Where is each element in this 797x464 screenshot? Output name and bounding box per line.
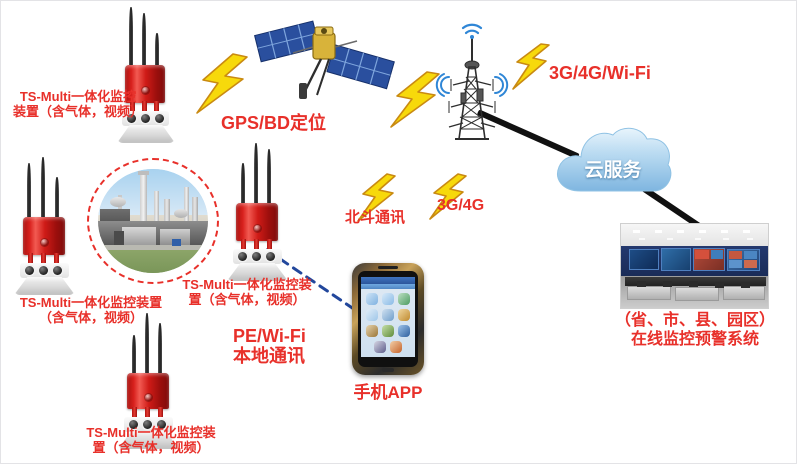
device-body: [23, 217, 65, 255]
antenna: [158, 323, 162, 379]
control-room-photo[interactable]: [620, 223, 769, 309]
phone-home-button[interactable]: [382, 368, 394, 372]
antenna: [254, 143, 258, 209]
lightning-bolt-icon-gps: [187, 53, 251, 115]
beidou-label: 北斗通讯: [345, 209, 439, 227]
sensor-port: [252, 252, 261, 261]
title-bar: [361, 284, 415, 289]
sensor-port: [266, 252, 275, 261]
phone-app-label: 手机APP: [333, 383, 443, 403]
phone-speaker: [378, 266, 398, 269]
app-icon[interactable]: [382, 309, 394, 321]
app-icon[interactable]: [366, 293, 378, 305]
antenna: [267, 149, 271, 209]
cell-tower-icon: [433, 15, 511, 145]
antenna: [27, 163, 31, 223]
device-mid-label: TS-Multi一体化监控装 置（含气体，视频）: [161, 277, 333, 308]
satellite-icon: [245, 9, 405, 109]
lightning-bolt-icon-tower-cloud: [507, 43, 551, 91]
app-icon[interactable]: [366, 309, 378, 321]
phone-screen[interactable]: [361, 277, 415, 357]
mobile-3g4g-wifi-label: 3G/4G/Wi-Fi: [549, 63, 699, 84]
pe-wifi-label: PE/Wi-Fi 本地通讯: [233, 327, 357, 367]
antenna: [129, 7, 133, 69]
refinery-photo: [98, 169, 208, 273]
device-base: [117, 125, 175, 143]
app-icon[interactable]: [398, 309, 410, 321]
app-icon[interactable]: [398, 293, 410, 305]
monitoring-device-left[interactable]: [5, 157, 83, 293]
app-icon[interactable]: [374, 341, 386, 353]
device-base: [14, 277, 75, 295]
sensor-port: [39, 266, 48, 275]
cloud-service-node[interactable]: 云服务: [549, 117, 677, 201]
device-top-label: TS-Multi一体化监控 装置（含气体，视频）: [3, 89, 153, 120]
cloud-label: 云服务: [549, 155, 677, 182]
antenna: [145, 313, 149, 379]
sensor-port: [238, 252, 247, 261]
device-body: [236, 203, 278, 241]
app-icon[interactable]: [382, 293, 394, 305]
app-icon[interactable]: [390, 341, 402, 353]
gps-label: GPS/BD定位: [221, 113, 353, 134]
monitoring-device-bottom[interactable]: [111, 313, 189, 443]
mobile-3g4g-label: 3G/4G: [437, 197, 509, 216]
app-icon[interactable]: [398, 325, 410, 337]
handheld-device[interactable]: [352, 263, 424, 375]
device-bottom-label: TS-Multi一体化监控装 置（含气体，视频）: [63, 425, 239, 456]
sensor-port: [25, 266, 34, 275]
app-icon[interactable]: [366, 325, 378, 337]
antenna: [41, 157, 45, 223]
monitoring-device-mid[interactable]: [221, 141, 299, 277]
diagram-canvas: 云服务: [0, 0, 797, 464]
control-center-label: （省、市、县、园区） 在线监控预警系统: [604, 311, 786, 349]
status-bar: [361, 277, 415, 284]
antenna: [142, 13, 146, 69]
device-body: [127, 373, 169, 409]
sensor-port: [155, 114, 164, 123]
sensor-port: [53, 266, 62, 275]
app-icon[interactable]: [382, 325, 394, 337]
